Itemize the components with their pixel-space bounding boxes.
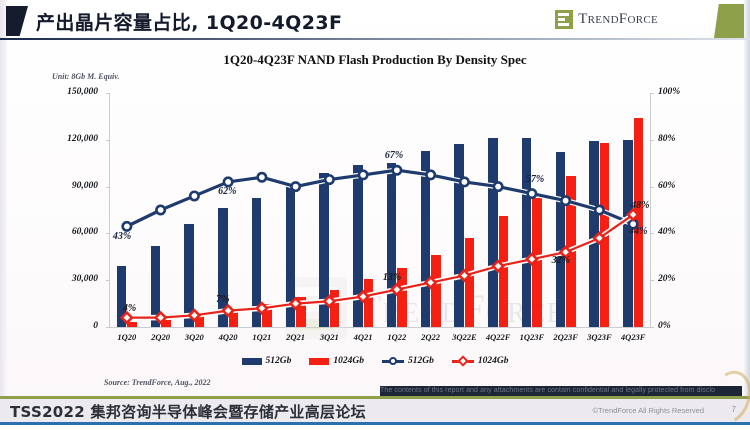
chart-unit-label: Unit: 8Gb M. Equiv. bbox=[52, 72, 120, 81]
legend-label: 512Gb bbox=[266, 356, 292, 366]
page-title: 产出晶片容量占比, 1Q20-4Q23F bbox=[36, 8, 342, 35]
title-flag-icon bbox=[6, 6, 28, 36]
marker-1024Gb-2Q22 bbox=[426, 277, 436, 287]
marker-512Gb-1Q22 bbox=[393, 166, 401, 174]
axis-tick bbox=[650, 327, 654, 328]
marker-512Gb-1Q20 bbox=[123, 222, 131, 230]
legend-item-3[interactable]: 1024Gb bbox=[452, 356, 509, 366]
marker-512Gb-4Q20 bbox=[224, 178, 232, 186]
axis-tick bbox=[106, 327, 110, 328]
y-tick-right: 20% bbox=[658, 274, 698, 284]
y-tick-right: 80% bbox=[658, 134, 698, 144]
brand-name: TrendForce bbox=[578, 11, 658, 28]
slide: 产出晶片容量占比, 1Q20-4Q23F TrendForce 1Q20-4Q2… bbox=[0, 0, 750, 425]
marker-512Gb-1Q21 bbox=[258, 173, 266, 181]
point-label-1024Gb-line-1Q20: 4% bbox=[123, 303, 136, 314]
marker-512Gb-2Q22 bbox=[426, 171, 434, 179]
header-divider bbox=[0, 38, 750, 40]
marker-1024Gb-2Q21 bbox=[291, 299, 301, 309]
marker-512Gb-4Q21 bbox=[359, 171, 367, 179]
axis-tick bbox=[106, 233, 110, 234]
x-tick-4Q23F: 4Q23F bbox=[613, 332, 653, 342]
legend-label: 1024Gb bbox=[333, 356, 364, 366]
chart-lines bbox=[110, 93, 650, 327]
point-label-512Gb-line-1Q23F: 57% bbox=[526, 174, 544, 185]
marker-1024Gb-1Q23F bbox=[527, 254, 537, 264]
y-tick-right: 60% bbox=[658, 181, 698, 191]
axis-tick bbox=[650, 93, 654, 94]
footer-rights: ©TrendForce All Rights Reserved bbox=[592, 406, 704, 415]
marker-512Gb-3Q22E bbox=[460, 178, 468, 186]
y-tick-left: 0 bbox=[52, 321, 98, 331]
point-label-512Gb-line-4Q23F: 44% bbox=[629, 226, 647, 237]
x-axis-line bbox=[109, 327, 651, 328]
point-label-512Gb-line-1Q22: 67% bbox=[385, 150, 403, 161]
marker-1024Gb-3Q20 bbox=[189, 310, 199, 320]
footer-title: TSS2022 集邦咨询半导体峰会暨存储产业高层论坛 bbox=[10, 401, 366, 422]
point-label-512Gb-line-4Q20: 62% bbox=[218, 186, 236, 197]
legend-item-1[interactable]: 1024Gb bbox=[309, 356, 364, 366]
y-tick-right: 100% bbox=[658, 87, 698, 97]
marker-512Gb-4Q22F bbox=[494, 182, 502, 190]
marker-512Gb-3Q21 bbox=[325, 175, 333, 183]
axis-tick bbox=[106, 140, 110, 141]
marker-1024Gb-4Q20 bbox=[223, 306, 233, 316]
y-axis-right-line bbox=[650, 93, 651, 327]
marker-1024Gb-1Q21 bbox=[257, 303, 267, 313]
confidentiality-banner: The contents of this report and any atta… bbox=[380, 386, 742, 396]
point-label-1024Gb-line-4Q20: 7% bbox=[216, 294, 229, 305]
marker-512Gb-3Q23F bbox=[595, 206, 603, 214]
axis-tick bbox=[650, 233, 654, 234]
legend-swatch-bar-icon bbox=[242, 358, 262, 365]
y-tick-left: 90,000 bbox=[52, 181, 98, 191]
trendforce-logo: TrendForce bbox=[555, 10, 658, 29]
line-512Gb bbox=[127, 170, 633, 226]
marker-1024Gb-1Q20 bbox=[122, 313, 132, 323]
axis-tick bbox=[650, 280, 654, 281]
corner-accent-tab bbox=[714, 4, 744, 38]
point-label-1024Gb-line-1Q22: 13% bbox=[383, 272, 401, 283]
marker-1024Gb-3Q21 bbox=[324, 296, 334, 306]
point-label-1024Gb-line-2Q23F: 32% bbox=[552, 255, 570, 266]
legend-label: 512Gb bbox=[408, 356, 434, 366]
legend-item-0[interactable]: 512Gb bbox=[242, 356, 292, 366]
chart-legend: 512Gb1024Gb512Gb1024Gb bbox=[0, 356, 750, 366]
marker-512Gb-2Q20 bbox=[156, 206, 164, 214]
legend-label: 1024Gb bbox=[478, 356, 509, 366]
legend-swatch-line-icon bbox=[452, 357, 474, 366]
y-tick-left: 60,000 bbox=[52, 227, 98, 237]
chart-title: 1Q20-4Q23F NAND Flash Production By Dens… bbox=[0, 52, 750, 68]
marker-1024Gb-1Q22 bbox=[392, 284, 402, 294]
y-tick-left: 150,000 bbox=[52, 87, 98, 97]
y-tick-right: 0% bbox=[658, 321, 698, 331]
y-tick-left: 120,000 bbox=[52, 134, 98, 144]
point-label-1024Gb-line-4Q23F: 48% bbox=[631, 200, 649, 211]
marker-512Gb-2Q23F bbox=[561, 196, 569, 204]
marker-1024Gb-2Q20 bbox=[156, 313, 166, 323]
chart-plot-area: TrendForce 43%62%67%57%44%4%7%13%32%48% bbox=[110, 93, 650, 327]
legend-swatch-bar-icon bbox=[309, 358, 329, 365]
marker-512Gb-2Q21 bbox=[291, 182, 299, 190]
axis-tick bbox=[106, 93, 110, 94]
marker-1024Gb-4Q21 bbox=[358, 291, 368, 301]
axis-tick bbox=[650, 187, 654, 188]
chart-source: Source: TrendForce, Aug., 2022 bbox=[104, 378, 211, 387]
line-1024Gb bbox=[127, 215, 633, 318]
trendforce-mark-icon bbox=[555, 10, 573, 29]
axis-tick bbox=[106, 280, 110, 281]
marker-512Gb-1Q23F bbox=[528, 189, 536, 197]
marker-512Gb-3Q20 bbox=[190, 192, 198, 200]
legend-swatch-line-icon bbox=[382, 357, 404, 366]
y-tick-right: 40% bbox=[658, 227, 698, 237]
axis-tick bbox=[650, 140, 654, 141]
slide-header: 产出晶片容量占比, 1Q20-4Q23F TrendForce bbox=[0, 0, 750, 40]
axis-tick bbox=[106, 187, 110, 188]
legend-item-2[interactable]: 512Gb bbox=[382, 356, 434, 366]
y-tick-left: 30,000 bbox=[52, 274, 98, 284]
point-label-512Gb-line-1Q20: 43% bbox=[113, 231, 131, 242]
